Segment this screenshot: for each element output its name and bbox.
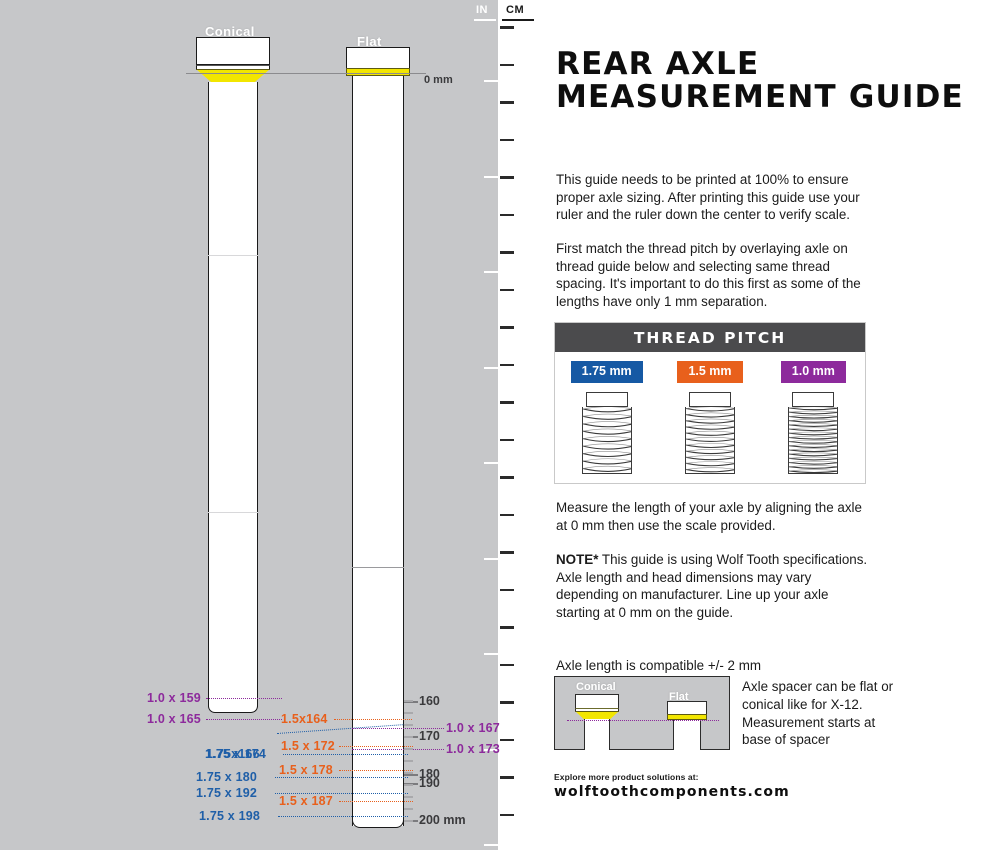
axle-seam-line	[208, 512, 258, 513]
thread-pitch-options: 1.75 mm1.5 mm1.0 mm	[555, 352, 865, 483]
thread-pitch-option-1[interactable]: 1.75 mm	[555, 352, 658, 483]
ruler-in-tick	[484, 176, 500, 178]
bolt-head	[586, 392, 628, 407]
ruler-cm-underline	[502, 19, 534, 21]
intro-paragraph: This guide needs to be printed at 100% t…	[556, 171, 876, 224]
ruler-in-tick	[484, 462, 500, 464]
ruler-in-underline	[474, 19, 496, 21]
ruler-in-tick	[484, 653, 500, 655]
measure-paragraph: Measure the length of your axle by align…	[556, 499, 876, 534]
measurement-label-1-5-x-172: 1.5 x 172	[281, 739, 335, 753]
spacer-conical-head	[575, 694, 619, 709]
ruler-cm-tick	[500, 701, 514, 704]
scale-minor-tick	[404, 700, 413, 702]
ruler-cm-tick	[500, 101, 514, 104]
ruler-cm-tick	[500, 139, 514, 142]
flat-axle-tip	[352, 820, 404, 828]
zero-reference-line	[186, 73, 426, 74]
axle-seam-line	[208, 255, 258, 256]
measurement-label-1-0-x-167: 1.0 x 167	[446, 721, 500, 735]
ruler-cm-tick	[500, 664, 514, 667]
ruler-cm-tick	[500, 476, 514, 479]
spacer-note: Axle spacer can be flat or conical like …	[742, 678, 902, 749]
bolt-head	[689, 392, 731, 407]
footer-tagline: Explore more product solutions at:	[554, 772, 699, 782]
conical-axle-head	[196, 37, 270, 65]
spacer-flat-head	[667, 701, 707, 715]
leader-line-1-75-x-198	[278, 816, 408, 817]
measurement-label-1-75-x-192: 1.75 x 192	[196, 786, 257, 800]
bolt-threads	[788, 407, 838, 474]
spacer-illustration-box: Conical Flat	[554, 676, 730, 750]
ruler-cm-tick	[500, 176, 514, 179]
scale-minor-tick	[404, 736, 413, 738]
ruler-cm-tick	[500, 776, 514, 779]
spacer-conical-shaft	[584, 719, 610, 750]
ruler-cm-face	[498, 0, 538, 850]
ruler-cm-tick	[500, 26, 514, 29]
thread-bolt-icon	[682, 392, 738, 474]
ruler-cm-tick	[500, 439, 514, 442]
scale-minor-tick	[404, 796, 413, 798]
thread-pitch-box: THREAD PITCH 1.75 mm1.5 mm1.0 mm	[554, 322, 866, 484]
flat-axle-head	[346, 47, 410, 69]
flat-axle-shaft	[352, 76, 404, 826]
leader-line-1-0-x-165	[206, 719, 282, 720]
ruler-cm-tick	[500, 814, 514, 817]
scale-number: 190	[419, 776, 440, 790]
ruler-cm-tick	[500, 214, 514, 217]
spacer-conical-label: Conical	[576, 681, 616, 693]
leader-line-1-5-x-172	[339, 746, 413, 747]
ruler-cm-tick	[500, 551, 514, 554]
info-panel: REAR AXLE MEASUREMENT GUIDE This guide n…	[538, 0, 1000, 850]
ruler-cm-tick	[500, 289, 514, 292]
leader-line-1-5-x-164	[334, 719, 412, 720]
ruler-in-tick	[484, 844, 500, 846]
scale-number: 200 mm	[419, 813, 466, 827]
scale-minor-tick	[404, 808, 413, 810]
scale-minor-tick	[404, 772, 413, 774]
thread-pitch-heading: THREAD PITCH	[555, 323, 865, 352]
thread-pitch-option-3[interactable]: 1.0 mm	[762, 352, 865, 483]
measurement-label-1-5-x-187: 1.5 x 187	[279, 794, 333, 808]
ruler-cm-tick	[500, 364, 514, 367]
ruler-cm-tick	[500, 514, 514, 517]
scale-tick	[404, 774, 418, 776]
leader-line-1-0-x-173	[352, 749, 444, 750]
flat-axle-spacer	[346, 68, 410, 76]
thread-pitch-option-2[interactable]: 1.5 mm	[658, 352, 761, 483]
ruler-in-tick	[484, 80, 500, 82]
ruler-cm-tick	[500, 739, 514, 742]
flat-axle-taper-mark	[352, 567, 404, 568]
ruler-cm-header: CM	[506, 4, 524, 16]
thread-bolt-icon	[579, 392, 635, 474]
scale-minor-tick	[404, 712, 413, 714]
measurement-label-1-0-x-159: 1.0 x 159	[147, 691, 201, 705]
ruler-in-tick	[484, 558, 500, 560]
zero-mm-label: 0 mm	[424, 74, 453, 86]
spacer-datum-line	[567, 720, 719, 721]
conical-axle-tip	[208, 704, 258, 713]
page-title: REAR AXLE MEASUREMENT GUIDE	[556, 48, 976, 115]
measurement-label-1-75-x-180: 1.75 x 180	[196, 770, 257, 784]
ruler-cm-tick	[500, 326, 514, 329]
ruler-cm-tick	[500, 64, 514, 67]
ruler-in-tick	[484, 271, 500, 273]
scale-minor-tick	[404, 784, 413, 786]
note-body: This guide is using Wolf Tooth specifica…	[556, 552, 867, 620]
leader-line-1-5-x-178	[339, 770, 413, 771]
bolt-threads	[582, 407, 632, 474]
ruler-in-header: IN	[476, 4, 488, 16]
scale-number: 170	[419, 729, 440, 743]
bolt-threads	[685, 407, 735, 474]
ruler-cm-tick	[500, 626, 514, 629]
spacer-flat-shaft	[673, 720, 701, 750]
ruler-in-tick	[484, 367, 500, 369]
leader-line-1-0-x-159	[206, 698, 282, 699]
leader-line-1-75-x-180	[275, 777, 408, 778]
thread-pitch-badge: 1.75 mm	[571, 361, 643, 383]
thread-pitch-badge: 1.5 mm	[677, 361, 742, 383]
ruler-cm-tick	[500, 401, 514, 404]
leader-line-1-75-x-174	[283, 754, 408, 755]
measurement-label-1-5-x-164: 1.5x164	[281, 712, 328, 726]
tolerance-paragraph: Axle length is compatible +/- 2 mm	[556, 657, 876, 675]
note-paragraph: NOTE* This guide is using Wolf Tooth spe…	[556, 551, 876, 622]
thread-pitch-badge: 1.0 mm	[781, 361, 846, 383]
measurement-label-1-75-x-198: 1.75 x 198	[199, 809, 260, 823]
measurement-label-1-0-x-173: 1.0 x 173	[446, 742, 500, 756]
footer-url[interactable]: wolftoothcomponents.com	[554, 784, 790, 800]
scale-minor-tick	[404, 724, 413, 726]
syntace-system-label: For Syntace X-12 system	[206, 140, 221, 360]
scale-minor-tick	[404, 760, 413, 762]
scale-minor-tick	[404, 748, 413, 750]
ruler-cm-tick	[500, 251, 514, 254]
leader-line-1-5-x-187	[339, 801, 413, 802]
scale-number: 160	[419, 694, 440, 708]
measurement-label-1-0-x-165: 1.0 x 165	[147, 712, 201, 726]
note-label: NOTE*	[556, 552, 598, 567]
ruler-cm-tick	[500, 589, 514, 592]
thread-bolt-icon	[785, 392, 841, 474]
bolt-head	[792, 392, 834, 407]
measurement-label-1-5-x-178: 1.5 x 178	[279, 763, 333, 777]
measurement-label-1-75-x-174: 1.75 x 174	[205, 747, 266, 761]
thread-pitch-paragraph: First match the thread pitch by overlayi…	[556, 240, 876, 311]
scale-minor-tick	[404, 820, 413, 822]
